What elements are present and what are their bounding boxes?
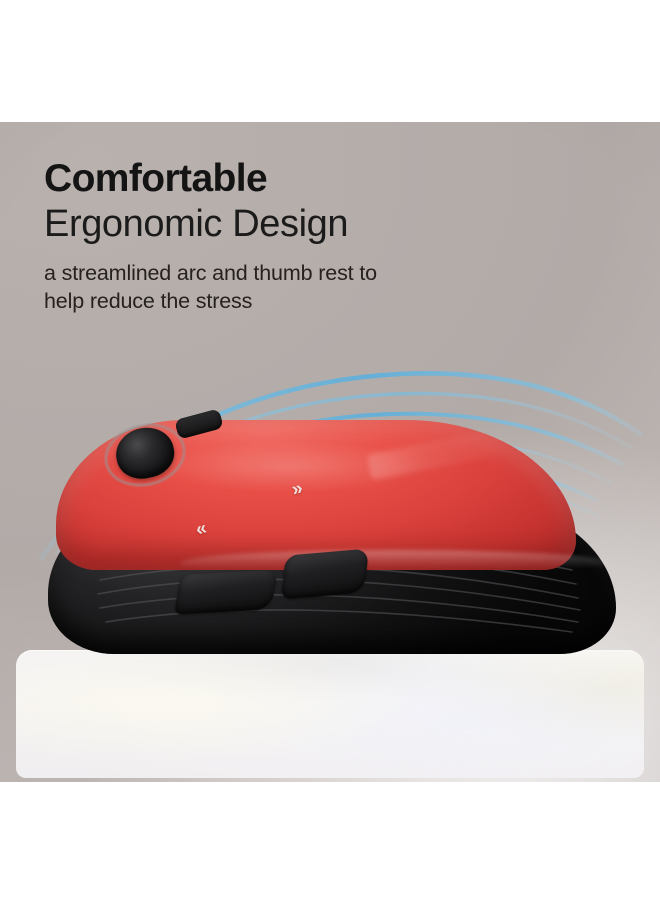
product-feature-image: Comfortable Ergonomic Design a streamlin… xyxy=(0,0,660,904)
mouse-product: « » xyxy=(30,402,630,672)
subcopy-line-2: help reduce the stress xyxy=(44,288,564,316)
subcopy: a streamlined arc and thumb rest to help… xyxy=(44,260,564,315)
product-photo: Comfortable Ergonomic Design a streamlin… xyxy=(0,122,660,782)
thumb-button-back[interactable] xyxy=(174,570,278,615)
headline-secondary: Ergonomic Design xyxy=(44,203,564,246)
copy-block: Comfortable Ergonomic Design a streamlin… xyxy=(44,158,564,315)
subcopy-line-1: a streamlined arc and thumb rest to xyxy=(44,260,564,288)
shell-brand-emboss xyxy=(367,426,519,480)
headline-primary: Comfortable xyxy=(44,158,564,199)
